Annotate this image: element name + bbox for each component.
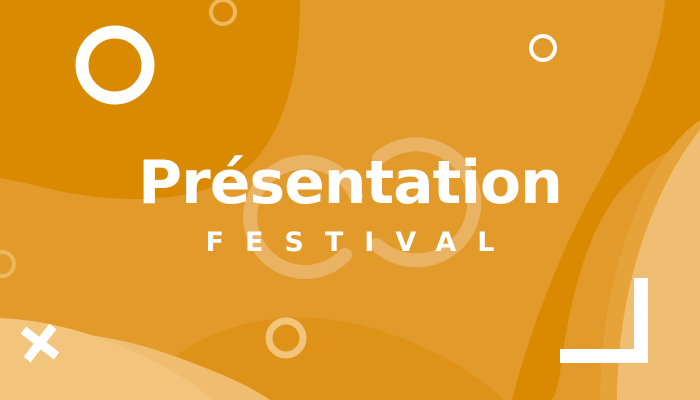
decorative-background (0, 0, 700, 400)
presentation-slide: Présentation FESTIVAL (0, 0, 700, 400)
